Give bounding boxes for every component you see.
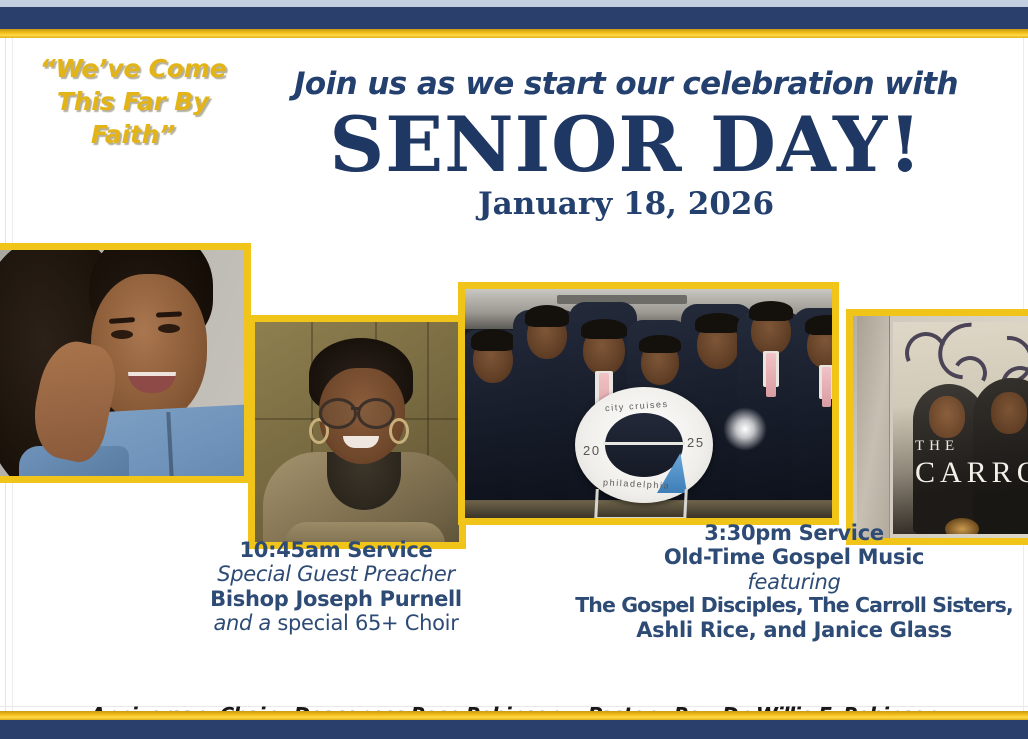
morning-service-speaker: Bishop Joseph Purnell: [126, 587, 546, 611]
cd-artwork: THE CARROLL: [893, 322, 1028, 534]
photo-2-content: [255, 322, 459, 542]
photo-3-man-5-hair: [695, 313, 741, 333]
morning-service-time: 10:45am Service: [126, 538, 546, 562]
photo-3-light-flare: [723, 407, 767, 451]
photo-2-glasses-right-lens: [357, 398, 395, 429]
photo-carroll-cd: THE CARROLL: [846, 309, 1028, 545]
photo-2-glasses-left-lens: [319, 398, 357, 429]
photo-1-eye-left: [111, 330, 133, 339]
senior-day-flyer: “We’ve Come This Far By Faith” Join us a…: [0, 0, 1028, 739]
life-ring: city cruises philadelphia 20 25: [575, 387, 713, 503]
photo-2-glasses-bridge: [351, 407, 360, 410]
afternoon-performers-line-2: Ashli Rice, and Janice Glass: [560, 618, 1028, 642]
photo-2-earring-right: [389, 418, 409, 444]
photo-mens-group: city cruises philadelphia 20 25: [458, 282, 839, 525]
life-ring-stand: [594, 489, 688, 518]
top-navy-band: [0, 7, 1028, 29]
life-ring-year-left: 20: [583, 443, 601, 458]
photo-3-man-1-hat: [471, 329, 515, 351]
afternoon-performers-line-1: The Gospel Disciples, The Carroll Sister…: [560, 594, 1028, 618]
cd-title-the: THE: [915, 438, 959, 455]
cd-title-carroll: CARROLL: [915, 456, 1028, 490]
photo-young-woman-denim: [0, 243, 251, 483]
photo-3-man-7-hair: [805, 315, 832, 335]
photo-3-man-6-hair: [749, 301, 793, 321]
morning-choir-rest: special 65+ Choir: [271, 611, 459, 635]
life-ring-year-right: 25: [687, 435, 705, 450]
photo-3-man-3-hair: [581, 319, 627, 339]
afternoon-featuring-label: featuring: [560, 570, 1028, 594]
credits-line: Anniversary Chair – Deaconess Rose Robin…: [0, 703, 1028, 711]
afternoon-service-block: 3:30pm Service Old-Time Gospel Music fea…: [560, 521, 1028, 642]
morning-choir-prefix: and a: [213, 611, 271, 635]
afternoon-service-time: 3:30pm Service: [560, 521, 1028, 545]
photo-3-man-4-hair: [639, 335, 681, 353]
photo-3-man-6-tie: [766, 353, 776, 397]
photo-3-content: city cruises philadelphia 20 25: [465, 289, 832, 518]
flyer-canvas: “We’ve Come This Far By Faith” Join us a…: [0, 38, 1028, 711]
cd-spine: [857, 316, 890, 538]
morning-service-block: 10:45am Service Special Guest Preacher B…: [126, 538, 546, 635]
cd-face-left: [929, 396, 965, 438]
top-gold-band: [0, 29, 1028, 38]
theme-quote: “We’ve Come This Far By Faith”: [22, 52, 244, 151]
photo-woman-glasses: [248, 315, 466, 549]
page-title: SENIOR DAY!: [246, 107, 1006, 183]
join-us-line: Join us as we start our celebration with: [246, 68, 1006, 101]
photo-1-eye-right: [158, 324, 180, 333]
morning-service-choir-line: and a special 65+ Choir: [126, 611, 546, 635]
life-ring-bar: [603, 442, 685, 445]
top-light-band: [0, 0, 1028, 7]
afternoon-service-subtitle: Old-Time Gospel Music: [560, 545, 1028, 569]
morning-service-role: Special Guest Preacher: [126, 562, 546, 586]
bottom-navy-band: [0, 720, 1028, 739]
life-ring-center: [605, 413, 683, 477]
life-ring-top-text: city cruises: [605, 399, 669, 413]
photo-3-man-7-tie: [822, 367, 831, 407]
photo-1-content: [0, 250, 244, 476]
photo-4-content: THE CARROLL: [853, 316, 1028, 538]
headline-block: Join us as we start our celebration with…: [246, 68, 1006, 221]
cd-face-right: [991, 392, 1027, 434]
photo-3-man-2-hair: [525, 305, 569, 327]
event-date: January 18, 2026: [246, 187, 1006, 221]
bottom-gold-band: [0, 711, 1028, 720]
